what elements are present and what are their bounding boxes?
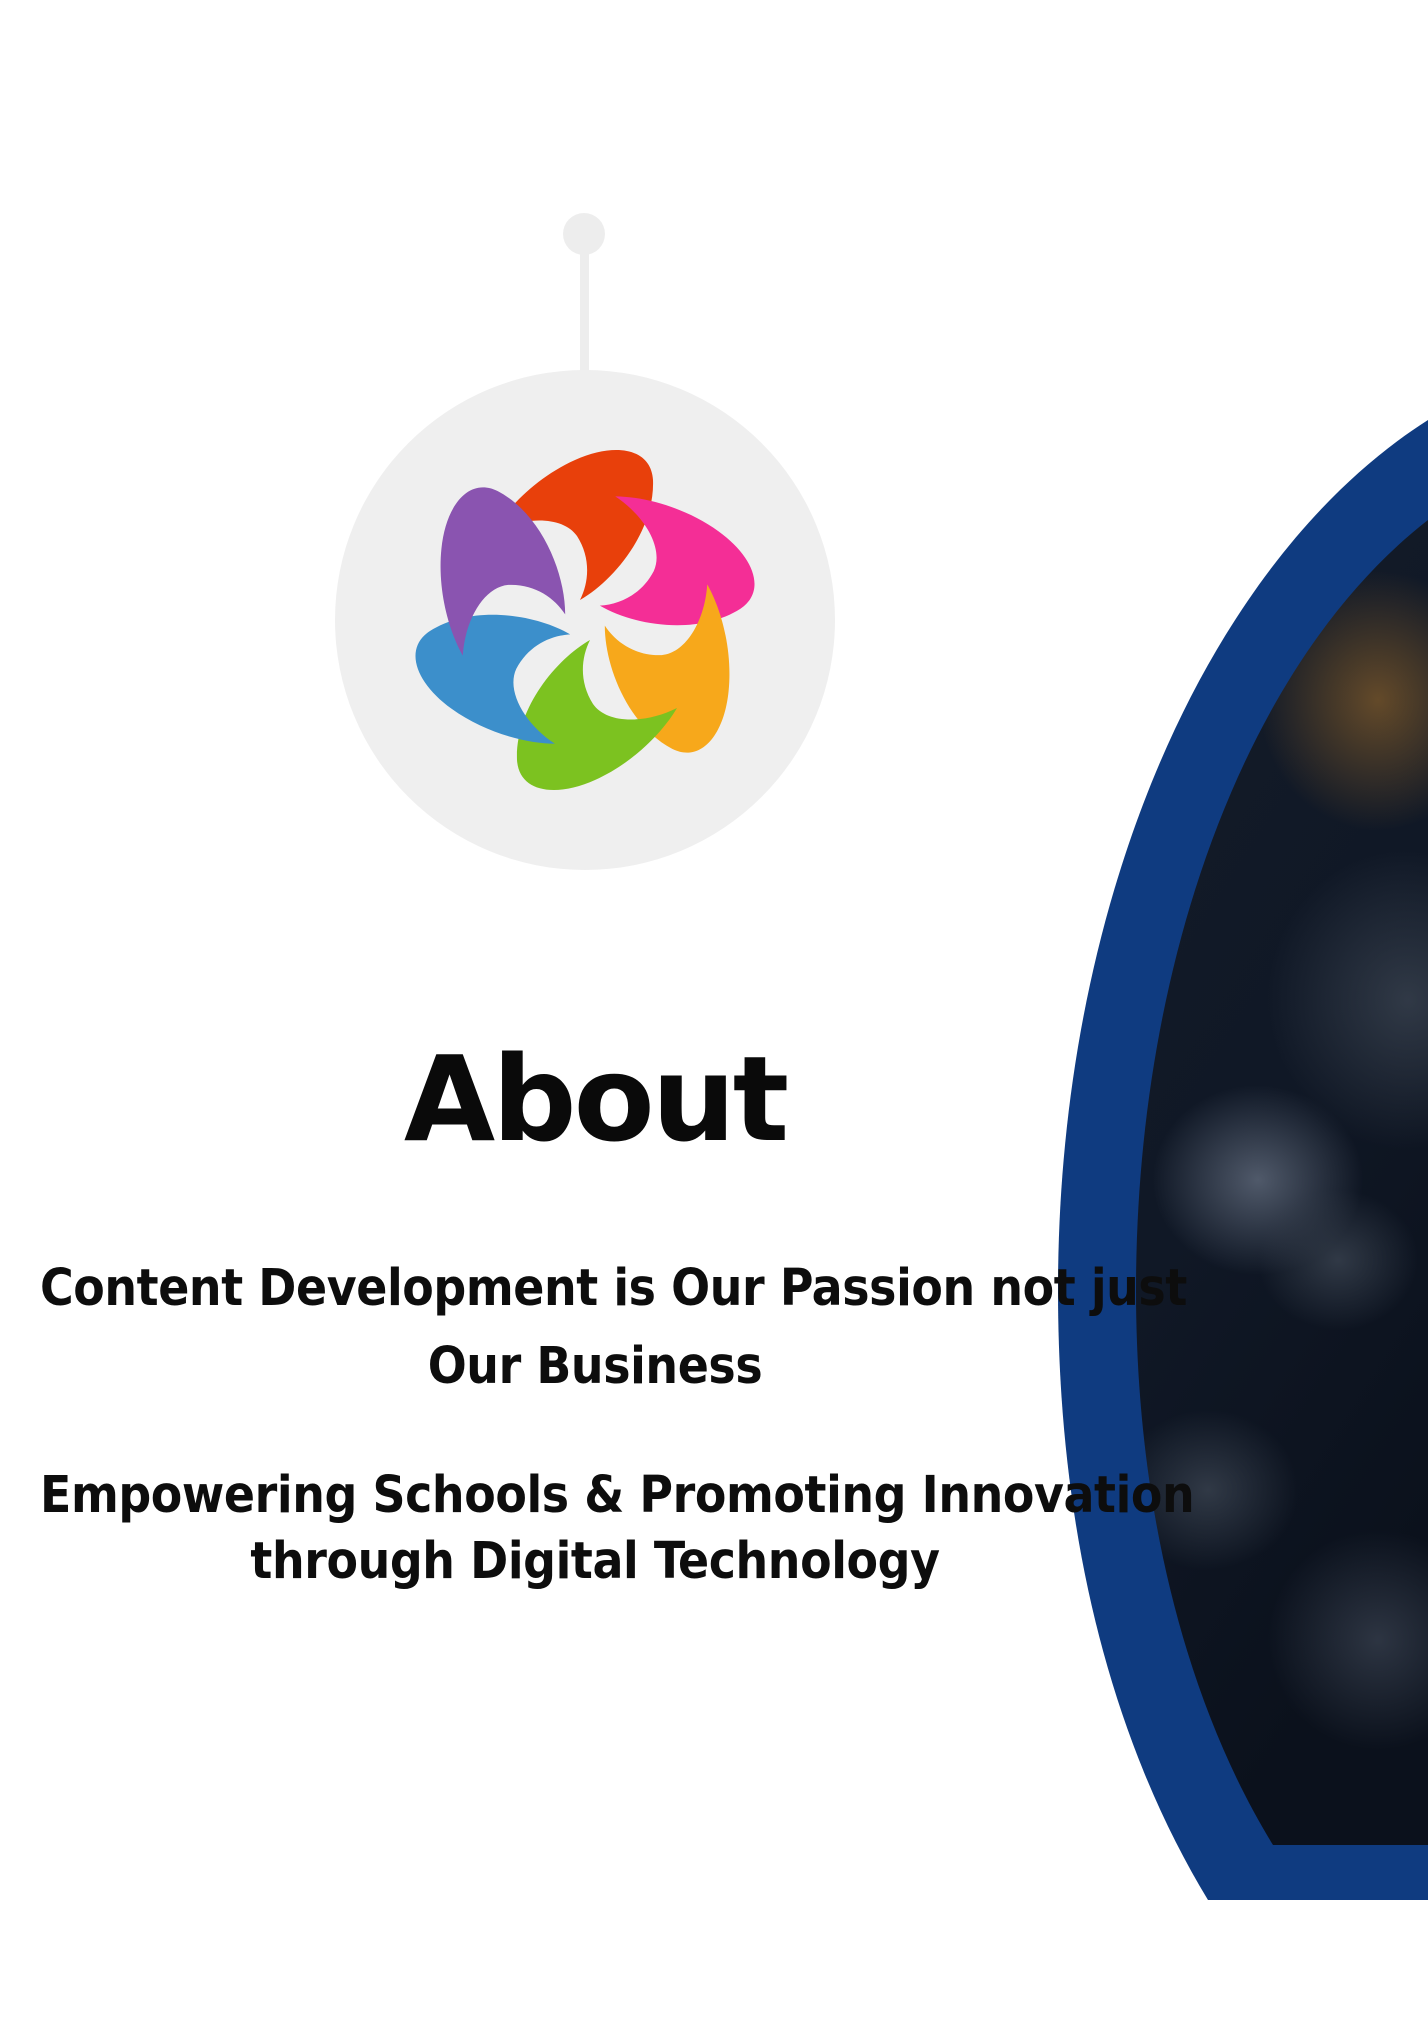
hanger-pin-icon bbox=[563, 213, 605, 375]
mission-paragraph: Empowering Schools & Promoting Innovatio… bbox=[0, 1463, 1190, 1596]
page-title: About bbox=[0, 1040, 1190, 1158]
decorative-band bbox=[908, 0, 1428, 2018]
dark-blurred-photo bbox=[908, 0, 1428, 2018]
content-column: About Content Development is Our Passion… bbox=[0, 1040, 1190, 1596]
about-page: About Content Development is Our Passion… bbox=[0, 0, 1428, 2018]
tagline-line-2: Our Business bbox=[428, 1337, 763, 1396]
navy-crescent-arc bbox=[908, 0, 1428, 2018]
mission-line-1: Empowering Schools & Promoting Innovatio… bbox=[40, 1466, 1194, 1525]
tagline-paragraph: Content Development is Our Passion not j… bbox=[0, 1250, 1190, 1405]
tagline-line-1: Content Development is Our Passion not j… bbox=[40, 1259, 1187, 1318]
logo-hanger bbox=[330, 210, 840, 870]
mission-line-2: through Digital Technology bbox=[250, 1532, 939, 1591]
logo-disc bbox=[335, 370, 835, 870]
